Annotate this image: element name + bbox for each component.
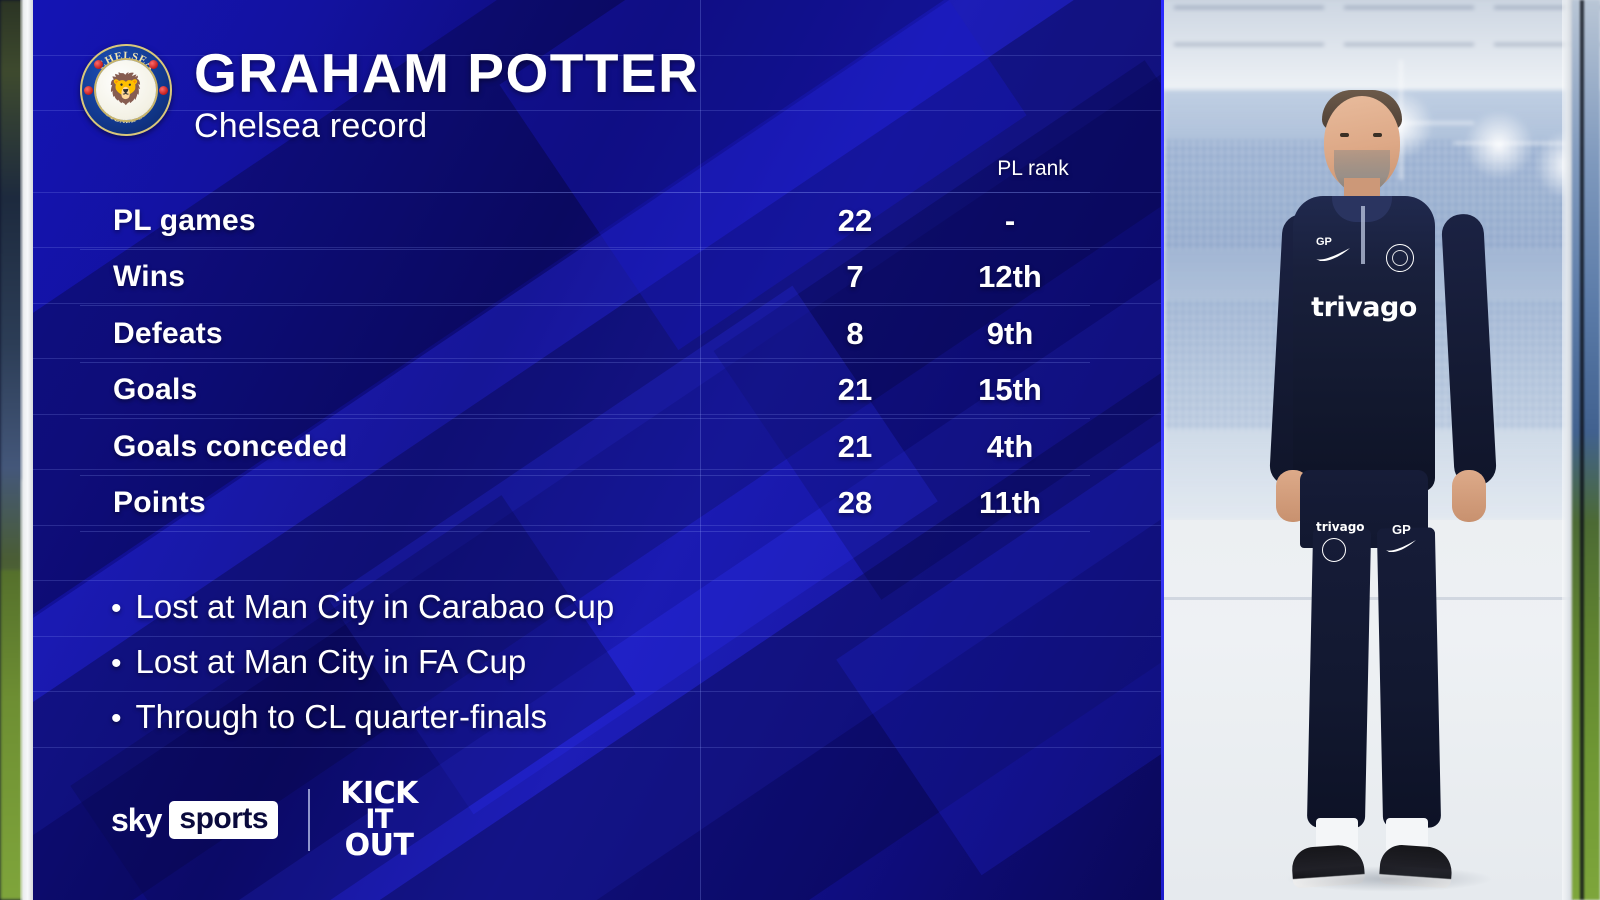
stat-rank: 9th <box>930 316 1090 352</box>
broadcast-graphic: CHELSEA FOOTBALL CLUB 🦁 GRAHAM POTTER Ch… <box>0 0 1600 900</box>
badge-rose-icon <box>94 60 103 69</box>
badge-rose-icon <box>159 86 168 95</box>
panel-header: CHELSEA FOOTBALL CLUB 🦁 GRAHAM POTTER Ch… <box>80 44 699 146</box>
figure-eye-left <box>1340 133 1349 137</box>
kio-line-3: OUT <box>345 832 414 860</box>
stat-label: Defeats <box>80 317 780 351</box>
nike-swoosh-leg-icon <box>1386 540 1416 552</box>
sky-wordmark: sky <box>111 802 161 839</box>
page-title: GRAHAM POTTER <box>194 46 699 101</box>
sponsor-chest: trivago <box>1303 292 1425 323</box>
stats-panel: CHELSEA FOOTBALL CLUB 🦁 GRAHAM POTTER Ch… <box>33 0 1164 900</box>
initials-leg: GP <box>1392 522 1411 537</box>
panel-bezel-left <box>20 0 34 900</box>
table-row: PL games 22 - <box>80 192 1090 250</box>
figure-leg-right <box>1377 527 1441 828</box>
badge-rose-icon <box>149 60 158 69</box>
chelsea-badge-leg-icon <box>1322 538 1346 562</box>
stat-rank: 15th <box>930 372 1090 408</box>
stat-label: Wins <box>80 260 780 294</box>
stat-label: Goals <box>80 373 780 407</box>
stat-value: 22 <box>780 203 930 239</box>
stat-label: Points <box>80 486 780 520</box>
stat-value: 28 <box>780 485 930 521</box>
stats-table: PL games 22 - Wins 7 12th Defeats 8 9th … <box>80 192 1090 532</box>
list-item: • Lost at Man City in Carabao Cup <box>111 588 614 643</box>
stat-value: 21 <box>780 429 930 465</box>
figure-eye-right <box>1373 133 1382 137</box>
stat-rank: 11th <box>930 485 1090 521</box>
lion-rampant-icon: 🦁 <box>107 75 144 105</box>
stat-label: PL games <box>80 204 780 238</box>
initials-chest: GP <box>1316 236 1332 248</box>
note-text: Through to CL quarter-finals <box>136 698 548 736</box>
manager-photo: GP trivago trivago GP <box>1164 0 1600 900</box>
bullet-icon: • <box>111 594 122 624</box>
graham-potter-figure: GP trivago trivago GP <box>1164 0 1600 900</box>
bullet-icon: • <box>111 649 122 679</box>
note-text: Lost at Man City in Carabao Cup <box>136 588 615 626</box>
figure-arm-right <box>1441 213 1497 487</box>
table-row: Defeats 8 9th <box>80 306 1090 363</box>
table-row: Goals 21 15th <box>80 363 1090 420</box>
stat-label: Goals conceded <box>80 430 780 464</box>
stat-rank: 4th <box>930 429 1090 465</box>
footer-logos: sky sports KICK IT OUT <box>111 782 418 858</box>
badge-rose-icon <box>84 86 93 95</box>
note-text: Lost at Man City in FA Cup <box>136 643 527 681</box>
stat-value: 7 <box>780 259 930 295</box>
notes-list: • Lost at Man City in Carabao Cup • Lost… <box>111 588 614 753</box>
list-item: • Through to CL quarter-finals <box>111 698 614 753</box>
sports-wordmark: sports <box>169 801 278 839</box>
stat-value: 21 <box>780 372 930 408</box>
stat-rank: - <box>930 203 1090 239</box>
column-header-pl-rank: PL rank <box>933 157 1133 181</box>
bullet-icon: • <box>111 704 122 734</box>
table-row: Goals conceded 21 4th <box>80 419 1090 476</box>
chelsea-badge-chest-icon <box>1386 244 1414 272</box>
outer-dark-bar <box>1580 0 1584 900</box>
stat-rank: 12th <box>930 259 1090 295</box>
nike-swoosh-icon <box>1316 248 1350 261</box>
figure-hand-right <box>1452 470 1486 522</box>
background-stadium-right <box>1572 0 1600 900</box>
chelsea-badge-icon: CHELSEA FOOTBALL CLUB 🦁 <box>80 44 172 136</box>
figure-zip <box>1361 206 1365 264</box>
sky-sports-logo: sky sports <box>111 801 278 839</box>
figure-shadow <box>1284 866 1494 892</box>
page-subtitle: Chelsea record <box>194 107 699 146</box>
table-row: Wins 7 12th <box>80 250 1090 307</box>
stat-value: 8 <box>780 316 930 352</box>
logo-divider <box>308 789 310 851</box>
table-row: Points 28 11th <box>80 476 1090 533</box>
figure-leg-left <box>1307 527 1371 828</box>
list-item: • Lost at Man City in FA Cup <box>111 643 614 698</box>
kick-it-out-logo: KICK IT OUT <box>340 782 418 858</box>
sponsor-leg: trivago <box>1316 520 1365 534</box>
